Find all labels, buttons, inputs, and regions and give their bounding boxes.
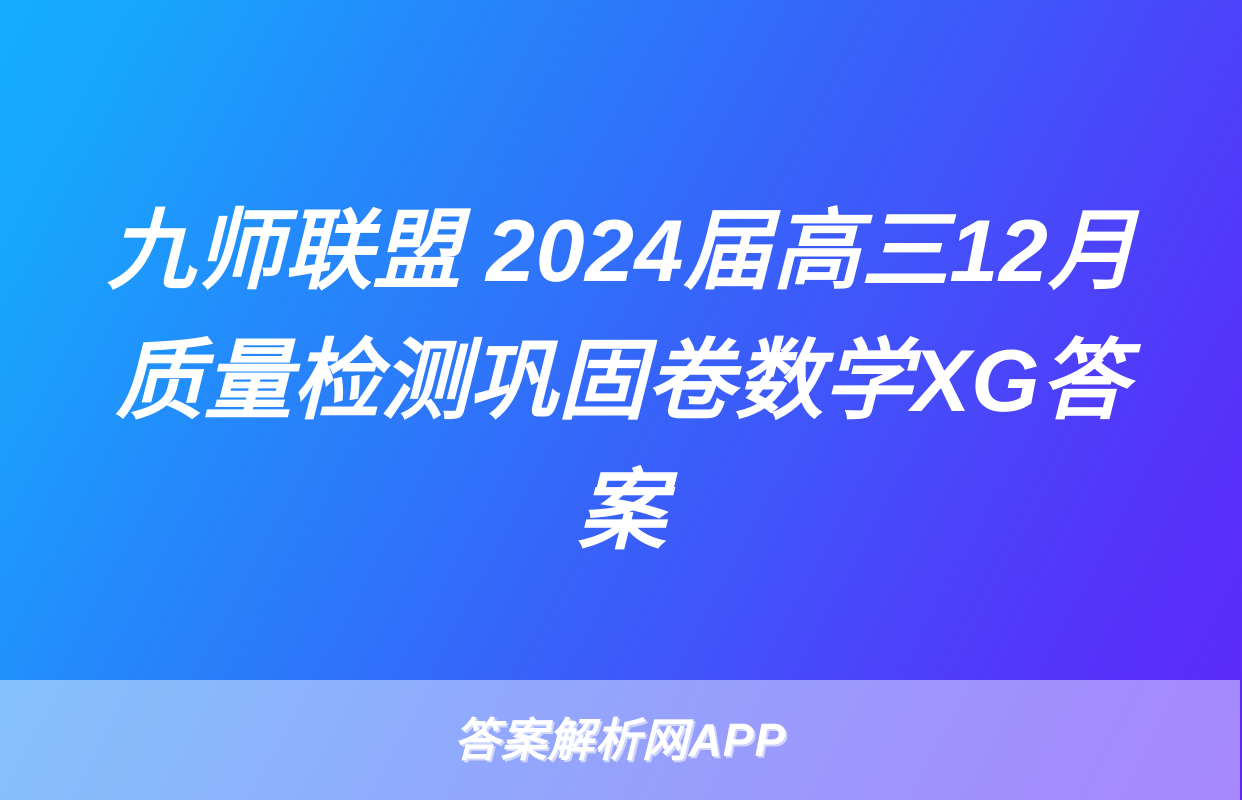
poster-canvas: 九师联盟 2024届高三12月质量检测巩固卷数学XG答案 答案解析网APP (0, 0, 1242, 800)
footer-watermark-band: 答案解析网APP (0, 680, 1240, 800)
app-watermark-label: 答案解析网APP (454, 717, 787, 763)
page-title: 九师联盟 2024届高三12月质量检测巩固卷数学XG答案 (92, 186, 1152, 577)
poster-title-block: 九师联盟 2024届高三12月质量检测巩固卷数学XG答案 (92, 186, 1152, 577)
